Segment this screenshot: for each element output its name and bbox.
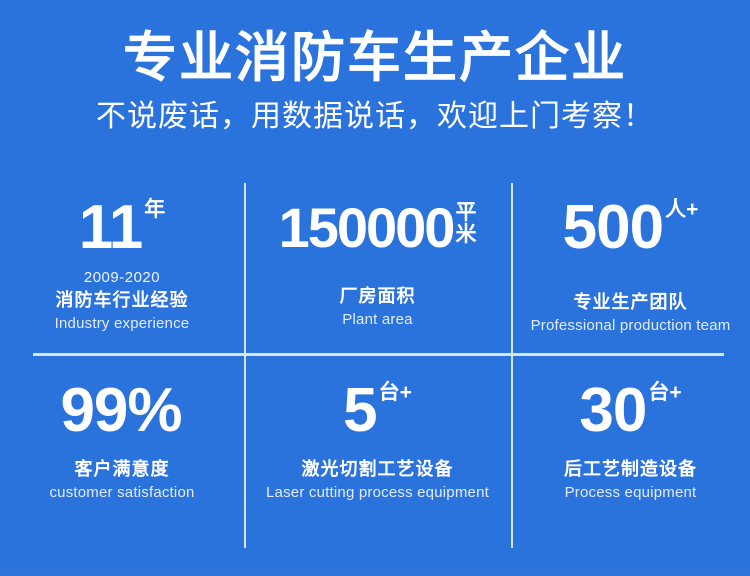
stat-label-cn: 客户满意度 [75,458,170,480]
stat-unit: 台+ [648,382,681,404]
stat-value-row: 30 台+ [579,380,681,442]
stat-label-en: Plant area [342,310,412,329]
stat-number: 5 [343,380,376,442]
stat-unit: 人+ [665,199,698,221]
stat-unit: 平 米 [455,202,476,246]
stat-label-en: customer satisfaction [49,483,194,502]
stat-cell-team: 500 人+ 专业生产团队 Professional production te… [511,183,750,354]
stat-unit-bottom: 米 [455,224,476,246]
stat-label-cn: 专业生产团队 [574,291,688,313]
stat-value-row: 5 台+ [343,380,412,442]
banner-header: 专业消防车生产企业 不说废话，用数据说话，欢迎上门考察！ [0,0,750,135]
stat-cell-plant-area: 150000 平 米 厂房面积 Plant area [244,183,511,354]
stat-number: 30 [579,380,646,442]
stat-label-cn: 后工艺制造设备 [564,458,697,480]
stat-cell-laser-equipment: 5 台+ 激光切割工艺设备 Laser cutting process equi… [244,354,511,548]
stat-value-row: 500 人+ [563,197,699,259]
stat-number: 500 [563,197,663,259]
stat-year-range: 2009-2020 [84,269,160,287]
stat-value-row: 99% [60,380,183,442]
stat-label-cn: 厂房面积 [340,285,416,307]
stat-label-en: Industry experience [55,314,190,333]
stat-unit-top: 平 [455,202,476,224]
stat-cell-satisfaction: 99% 客户满意度 customer satisfaction [0,354,244,548]
stat-label-en: Process equipment [565,483,697,502]
page-title: 专业消防车生产企业 [0,0,750,87]
company-stats-banner: 专业消防车生产企业 不说废话，用数据说话，欢迎上门考察！ 11 年 2009-2… [0,0,750,576]
stat-label-en: Professional production team [531,316,731,335]
stat-unit: 年 [144,199,165,221]
stat-label-cn: 消防车行业经验 [56,289,189,311]
stats-grid: 11 年 2009-2020 消防车行业经验 Industry experien… [0,183,750,548]
stat-cell-process-equipment: 30 台+ 后工艺制造设备 Process equipment [511,354,750,548]
stat-number: 11 [79,197,143,259]
stat-value-row: 11 年 [79,197,166,259]
bottom-strip [0,566,750,576]
stat-value-row: 150000 平 米 [279,199,477,257]
stat-number: 150000 [279,199,454,257]
stat-unit: 台+ [379,382,412,404]
stat-label-en: Laser cutting process equipment [266,483,489,502]
stat-label-cn: 激光切割工艺设备 [302,458,454,480]
stat-cell-experience: 11 年 2009-2020 消防车行业经验 Industry experien… [0,183,244,354]
page-subtitle: 不说废话，用数据说话，欢迎上门考察！ [0,87,750,135]
stat-number: 99% [60,380,181,442]
